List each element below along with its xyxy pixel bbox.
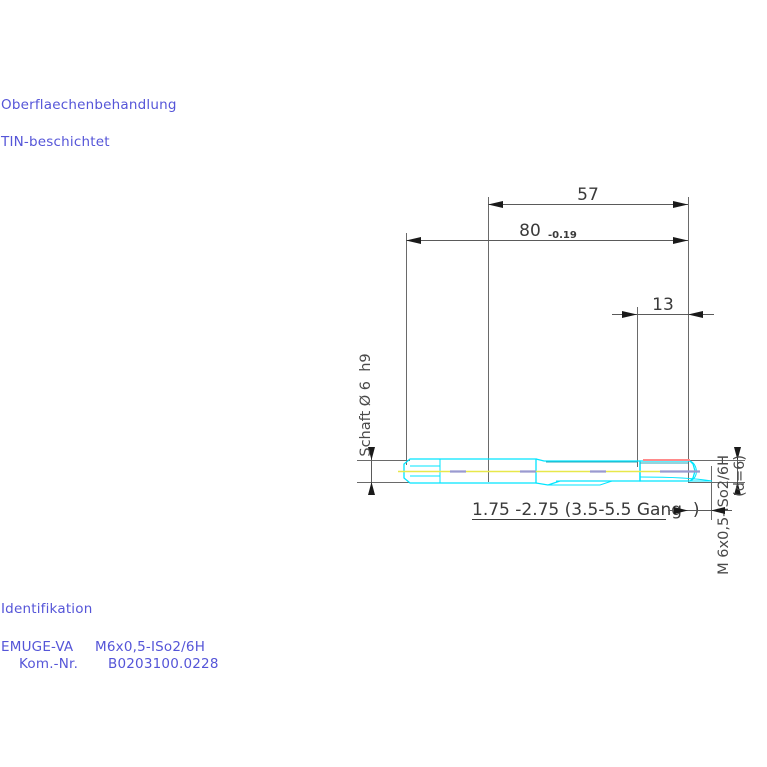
surface-treatment-heading: Oberflaechenbehandlung — [1, 97, 177, 113]
label-shank-spec: Schaft Ø 6 h9 — [358, 353, 374, 456]
dimension-80: 80 -0.19 — [406, 221, 688, 244]
dimension-13-arrow-left — [622, 311, 637, 318]
dimension-shank-dia-arrow-bottom — [368, 482, 375, 495]
part-hidden-edges — [546, 462, 688, 463]
identification-thread-spec: M6x0,5-ISo2/6H — [95, 639, 205, 655]
dimension-57-arrow-right — [673, 201, 688, 208]
cad-drawing-svg: Oberflaechenbehandlung TIN-beschichtet I… — [0, 0, 767, 767]
dimension-80-arrow-left — [406, 237, 421, 244]
dimension-tip-small — [668, 507, 732, 514]
identification-order-label: Kom.-Nr. — [19, 656, 78, 672]
technical-drawing-canvas: Oberflaechenbehandlung TIN-beschichtet I… — [0, 0, 767, 767]
dimension-80-tolerance: -0.19 — [548, 230, 577, 241]
part-tap-tool — [398, 459, 712, 485]
dimension-80-text: 80 — [519, 221, 541, 241]
label-thread-spec-line1: M 6x0,5-ISo2/6H — [716, 455, 732, 575]
identification-brand: EMUGE-VA — [1, 639, 74, 655]
dimension-57-text: 57 — [577, 185, 599, 205]
dimension-13-arrow-right — [688, 311, 703, 318]
identification-order-number: B0203100.0228 — [108, 656, 219, 672]
chamfer-note-group: 1.75 -2.75 (3.5-5.5 Gang ) — [472, 500, 699, 520]
label-thread-spec-line2: (d=6) — [732, 455, 748, 497]
identification-heading: Identifikation — [1, 601, 92, 617]
dimension-57-arrow-left — [488, 201, 503, 208]
surface-treatment-value: TIN-beschichtet — [0, 134, 110, 150]
dimension-13: 13 — [612, 295, 714, 318]
dimension-57: 57 — [488, 185, 688, 208]
dimension-13-text: 13 — [652, 295, 674, 315]
dimension-80-arrow-right — [673, 237, 688, 244]
chamfer-note-text: 1.75 -2.75 (3.5-5.5 Gang ) — [472, 500, 699, 520]
